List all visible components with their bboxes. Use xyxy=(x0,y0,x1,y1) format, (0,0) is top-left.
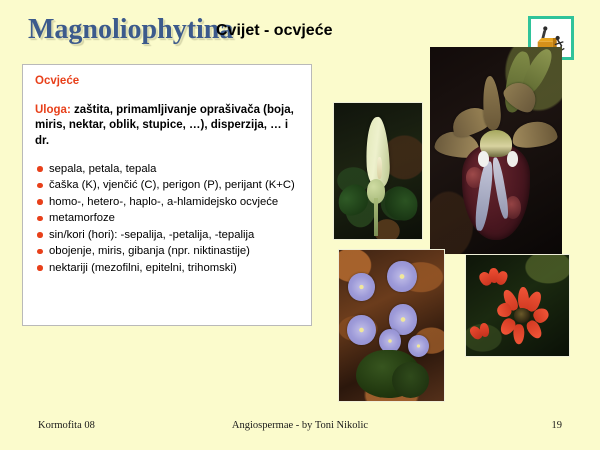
list-item: nektariji (mezofilni, epitelni, trihomsk… xyxy=(35,261,301,276)
content-panel: Ocvjeće Uloga: zaštita, primamljivanje o… xyxy=(22,64,312,326)
list-item: čaška (K), vjenčić (C), perigon (P), per… xyxy=(35,178,301,193)
sepal-shape xyxy=(510,119,558,150)
leaf-shape xyxy=(382,184,421,223)
stem-shape xyxy=(374,198,378,236)
flower-shape xyxy=(348,273,374,302)
flower-shape xyxy=(478,267,509,293)
photo-background xyxy=(466,255,569,356)
leaf-shape xyxy=(392,362,430,398)
page-subtitle: Cvijet - ocvjeće xyxy=(216,22,333,40)
hepatica-flowers-photo xyxy=(338,249,445,402)
arum-spathe-photo xyxy=(333,102,423,240)
footer-center-text: Angiospermae - by Toni Nikolic xyxy=(0,420,600,431)
slide-footer: Kormofita 08 Angiospermae - by Toni Niko… xyxy=(0,420,600,442)
panel-role-label: Uloga: xyxy=(35,104,71,116)
flower-shape xyxy=(387,261,416,293)
flower-shape xyxy=(408,335,429,358)
list-item: sin/kori (hori): -sepalija, -petalija, -… xyxy=(35,228,301,243)
adonis-red-flowers-photo xyxy=(465,254,570,357)
panel-role: Uloga: zaštita, primamljivanje oprašivač… xyxy=(35,103,301,149)
list-item: obojenje, miris, gibanja (npr. niktinast… xyxy=(35,244,301,259)
slide-canvas: Magnoliophytina Cvijet - ocvjeće Ocvjeće… xyxy=(0,0,600,450)
ophrys-orchid-photo xyxy=(430,47,562,254)
photo-背景 xyxy=(334,103,422,239)
panel-heading: Ocvjeće xyxy=(35,75,301,87)
flower-shape xyxy=(347,315,375,345)
panel-role-text: zaštita, primamljivanje oprašivača (boja… xyxy=(35,104,294,147)
list-item: sepala, petala, tepala xyxy=(35,162,301,177)
list-item: homo-, hetero-, haplo-, a-hlamidejsko oc… xyxy=(35,195,301,210)
slide-number: 19 xyxy=(552,420,563,431)
flower-center xyxy=(514,308,529,323)
leaf-shape xyxy=(334,181,370,217)
bullet-list: sepala, petala, tepala čaška (K), vjenči… xyxy=(35,162,301,276)
photo-background xyxy=(339,250,444,401)
flower-shape xyxy=(470,322,497,346)
page-title: Magnoliophytina xyxy=(28,14,233,46)
photo-background xyxy=(430,47,562,254)
list-item: metamorfoze xyxy=(35,211,301,226)
